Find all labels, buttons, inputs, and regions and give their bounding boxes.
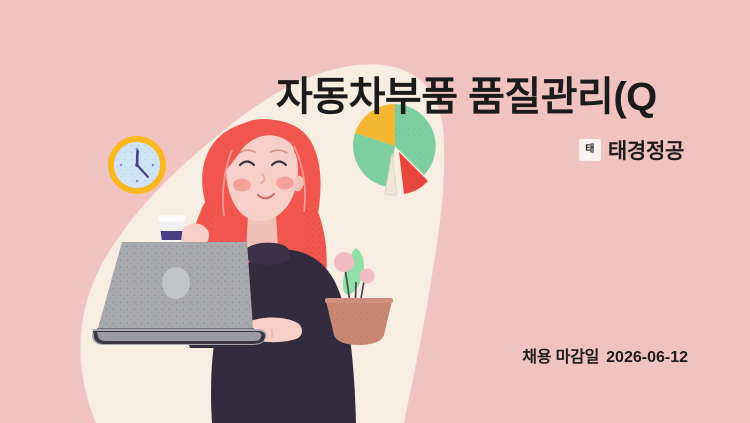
deadline-info: 채용 마감일2026-06-12 — [522, 343, 688, 367]
company-row[interactable]: 태 태경정공 — [420, 136, 684, 164]
company-name[interactable]: 태경정공 — [608, 135, 684, 165]
deadline-label: 채용 마감일 — [522, 349, 599, 366]
banner-text-layer: 자동차부품 품질관리(Q 태 태경정공 채용 마감일2026-06-12 — [0, 0, 750, 423]
page-title[interactable]: 자동차부품 품질관리(Q — [276, 71, 750, 123]
job-posting-banner[interactable]: 자동차부품 품질관리(Q 태 태경정공 채용 마감일2026-06-12 — [0, 0, 750, 423]
company-logo-badge: 태 — [579, 139, 601, 161]
deadline-date: 2026-06-12 — [606, 349, 688, 366]
